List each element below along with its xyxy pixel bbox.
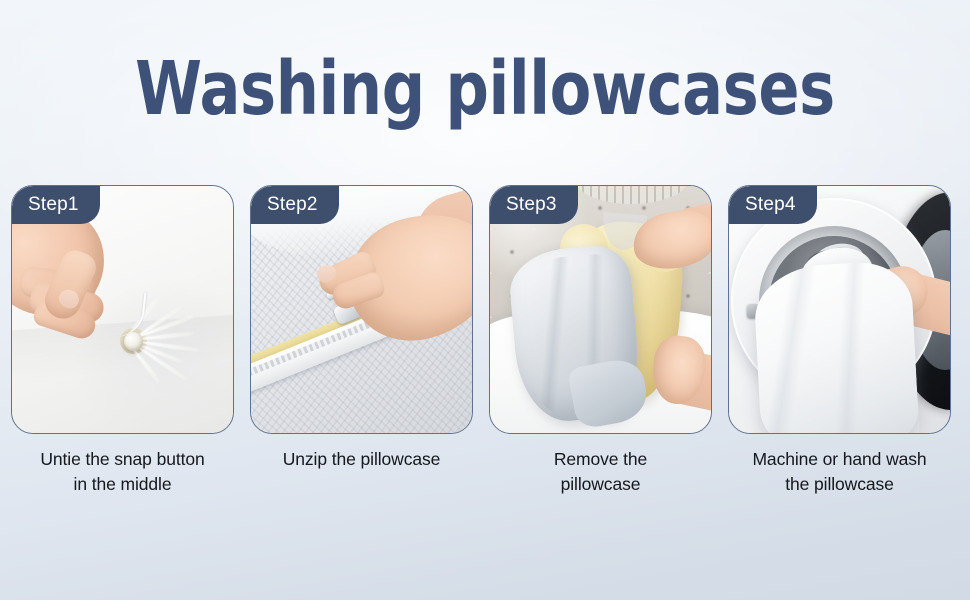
step-badge-4: Step4 xyxy=(729,186,817,224)
caption-line-1: Untie the snap button xyxy=(11,447,234,472)
infographic-page: Washing pillowcases xyxy=(0,0,970,600)
step-badge-1: Step1 xyxy=(12,186,100,224)
step-caption-2: Unzip the pillowcase xyxy=(250,447,473,497)
step-card-1[interactable]: Step1 xyxy=(11,185,234,434)
page-title: Washing pillowcases xyxy=(87,52,882,126)
snap-button xyxy=(124,332,143,351)
step-card-3[interactable]: Step3 xyxy=(489,185,712,434)
steps-row: Step1 Step2 xyxy=(11,185,959,435)
caption-line-1: Unzip the pillowcase xyxy=(250,447,473,472)
step-card-4[interactable]: Step4 xyxy=(728,185,951,434)
caption-line-1: Remove the xyxy=(489,447,712,472)
step-badge-2: Step2 xyxy=(251,186,339,224)
step-caption-3: Remove the pillowcase xyxy=(489,447,712,497)
step-caption-1: Untie the snap button in the middle xyxy=(11,447,234,497)
caption-line-2: the pillowcase xyxy=(728,472,951,497)
step-caption-4: Machine or hand wash the pillowcase xyxy=(728,447,951,497)
step-card-2[interactable]: Step2 xyxy=(250,185,473,434)
step-badge-3: Step3 xyxy=(490,186,578,224)
caption-line-1: Machine or hand wash xyxy=(728,447,951,472)
white-pillowcase-fabric xyxy=(753,260,920,433)
caption-line-2: in the middle xyxy=(11,472,234,497)
captions-row: Untie the snap button in the middle Unzi… xyxy=(11,447,959,497)
caption-line-2: pillowcase xyxy=(489,472,712,497)
